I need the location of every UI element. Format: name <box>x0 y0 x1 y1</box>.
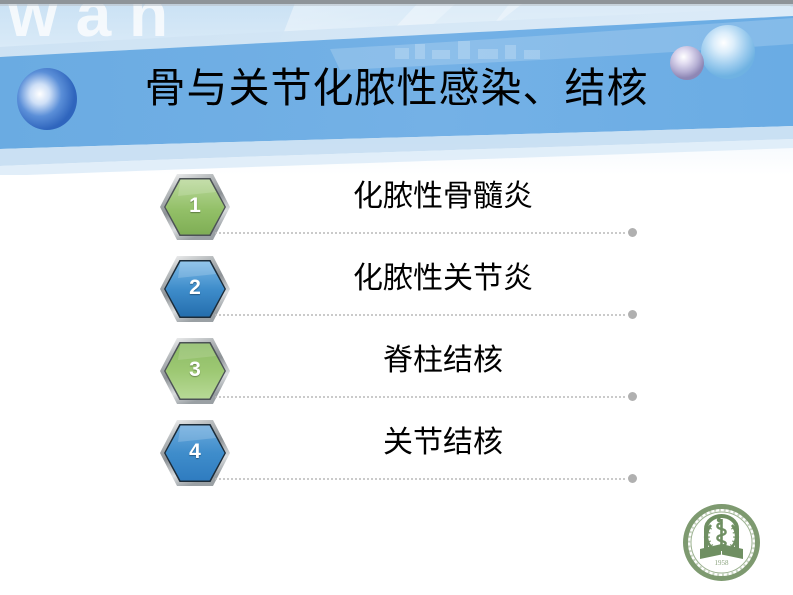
page-title: 骨与关节化脓性感染、结核 <box>0 63 793 113</box>
agenda-item-label: 化脓性骨髓炎 <box>248 176 638 218</box>
agenda-connector-end-dot <box>628 392 637 401</box>
agenda-item-label: 脊柱结核 <box>248 340 638 382</box>
agenda-item-label: 关节结核 <box>248 422 638 464</box>
agenda-item-label: 化脓性关节炎 <box>248 258 638 300</box>
list-item[interactable]: 2 化脓性关节炎 <box>0 250 793 332</box>
agenda-connector-line <box>214 314 626 316</box>
university-hospital-logo: 1958 <box>682 503 761 582</box>
agenda-list: 1 化脓性骨髓炎 <box>0 168 793 496</box>
list-item[interactable]: 1 化脓性骨髓炎 <box>0 168 793 250</box>
agenda-connector-end-dot <box>628 228 637 237</box>
agenda-connector-line <box>214 478 626 480</box>
agenda-connector-end-dot <box>628 474 637 483</box>
list-item[interactable]: 3 脊柱结核 <box>0 332 793 414</box>
agenda-connector-line <box>214 232 626 234</box>
agenda-connector-end-dot <box>628 310 637 319</box>
logo-year: 1958 <box>715 559 730 567</box>
agenda-connector-line <box>214 396 626 398</box>
slide-canvas: w a n <box>0 0 793 595</box>
list-item[interactable]: 4 关节结核 <box>0 414 793 496</box>
